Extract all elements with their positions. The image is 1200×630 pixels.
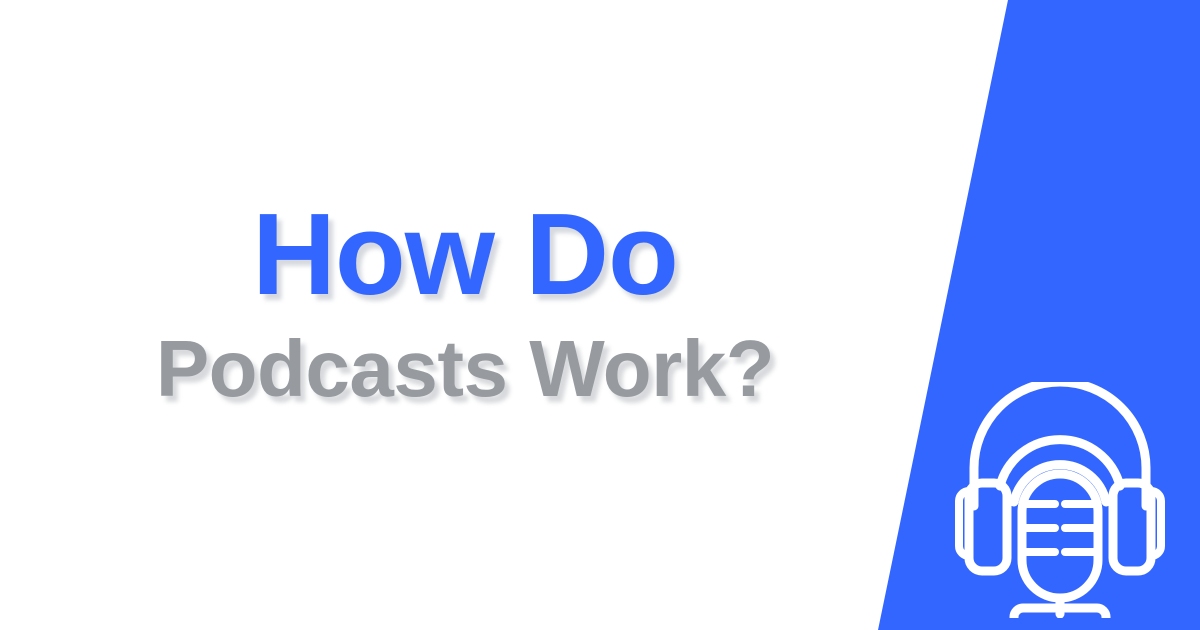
page-title-headline: How Do — [0, 196, 930, 312]
page-title-subheadline: Podcasts Work? — [0, 328, 930, 410]
title-block: How Do Podcasts Work? — [0, 196, 930, 410]
podcast-microphone-headphones-icon — [952, 382, 1168, 618]
microphone-capsule-icon — [1022, 474, 1098, 598]
poster-canvas: How Do Podcasts Work? — [0, 0, 1200, 630]
microphone-grille-lines-icon — [1024, 504, 1096, 552]
